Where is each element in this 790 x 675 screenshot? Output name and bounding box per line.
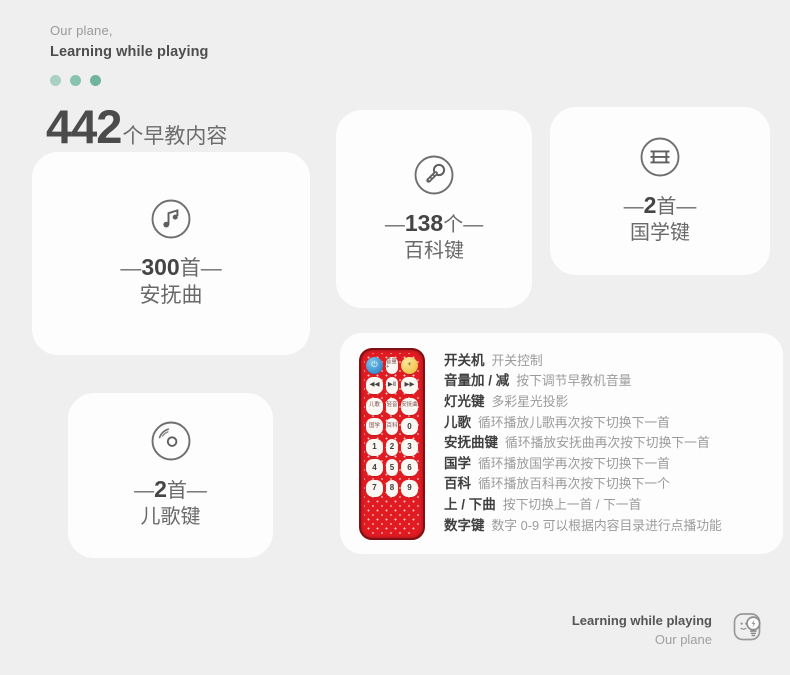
microphone-icon bbox=[413, 154, 455, 201]
feature-row: 灯光键多彩星光投影 bbox=[444, 392, 769, 413]
encyclopedia-key[interactable]: 百科 bbox=[386, 418, 398, 435]
footer-text: Learning while playing Our plane bbox=[572, 611, 712, 649]
decorative-dots bbox=[50, 75, 209, 86]
feature-key-name: 儿歌 bbox=[444, 413, 471, 434]
feature-description: 数字 0-9 可以根据内容目录进行点播功能 bbox=[492, 516, 722, 537]
feature-key-name: 百科 bbox=[444, 474, 471, 495]
previous-key[interactable]: ◀◀ bbox=[366, 377, 383, 394]
feature-row: 音量加 / 减按下调节早教机音量 bbox=[444, 371, 769, 392]
light-key[interactable]: ☀ bbox=[401, 357, 418, 374]
card-count-line: —2首— bbox=[624, 192, 697, 220]
digit-2-key[interactable]: 2 bbox=[386, 439, 398, 456]
dot-2-icon bbox=[70, 75, 81, 86]
feature-description: 按下切换上一首 / 下一首 bbox=[503, 495, 642, 516]
feature-row: 开关机开关控制 bbox=[444, 351, 769, 372]
lullaby-key[interactable]: 安抚曲 bbox=[401, 398, 418, 415]
feature-description: 循环播放儿歌再次按下切换下一首 bbox=[478, 413, 670, 434]
digit-5-key[interactable]: 5 bbox=[386, 459, 398, 476]
card-count-line: —300首— bbox=[120, 254, 221, 282]
infographic-page: Our plane, Learning while playing 442 个早… bbox=[0, 0, 790, 675]
power-key[interactable]: ⏻ bbox=[366, 357, 383, 374]
feature-key-name: 国学 bbox=[444, 454, 471, 475]
digit-0-key[interactable]: 0 bbox=[401, 418, 418, 435]
feature-row: 安抚曲键循环播放安抚曲再次按下切换下一首 bbox=[444, 433, 769, 454]
feature-card-encyclopedia[interactable]: —138个— 百科键 bbox=[336, 110, 532, 308]
disc-icon bbox=[150, 420, 192, 467]
header-eyebrow: Our plane, bbox=[50, 22, 209, 40]
digit-7-key[interactable]: 7 bbox=[366, 480, 383, 497]
feature-key-name: 音量加 / 减 bbox=[444, 371, 509, 392]
feature-description: 按下调节早教机音量 bbox=[516, 371, 631, 392]
feature-description: 多彩星光投影 bbox=[492, 392, 569, 413]
feature-key-name: 开关机 bbox=[444, 351, 485, 372]
next-key[interactable]: ▶▶ bbox=[401, 377, 418, 394]
dot-1-icon bbox=[50, 75, 61, 86]
digit-9-key[interactable]: 9 bbox=[401, 480, 418, 497]
total-content-count: 442 个早教内容 bbox=[46, 104, 227, 150]
feature-card-lullaby[interactable]: —300首— 安抚曲 bbox=[32, 152, 310, 355]
volume-key[interactable]: 音量+ bbox=[386, 357, 398, 374]
feature-row: 国学循环播放国学再次按下切换下一首 bbox=[444, 454, 769, 475]
feature-description: 开关控制 bbox=[492, 351, 543, 372]
card-label: 百科键 bbox=[404, 238, 464, 265]
feature-card-kidsongs[interactable]: —2首— 儿歌键 bbox=[68, 393, 273, 558]
play-pause-key[interactable]: ▶Ⅱ bbox=[386, 377, 398, 394]
feature-key-name: 安抚曲键 bbox=[444, 433, 498, 454]
digit-4-key[interactable]: 4 bbox=[366, 459, 383, 476]
remote-image: ⏻音量+☀◀◀▶Ⅱ▶▶儿歌轻音安抚曲国学百科0123456789 bbox=[340, 348, 444, 540]
card-count-line: —2首— bbox=[134, 476, 207, 504]
dot-3-icon bbox=[90, 75, 101, 86]
footer-slogan: Learning while playing bbox=[572, 611, 712, 630]
header-brandline: Learning while playing bbox=[50, 42, 209, 62]
footer-brand: Our plane bbox=[572, 630, 712, 649]
feature-row: 上 / 下曲按下切换上一首 / 下一首 bbox=[444, 495, 769, 516]
card-label: 国学键 bbox=[630, 220, 690, 247]
feature-row: 数字键数字 0-9 可以根据内容目录进行点播功能 bbox=[444, 516, 769, 537]
music-key[interactable]: 轻音 bbox=[386, 398, 398, 415]
total-unit: 个早教内容 bbox=[122, 124, 227, 150]
remote-feature-panel: ⏻音量+☀◀◀▶Ⅱ▶▶儿歌轻音安抚曲国学百科0123456789 开关机开关控制… bbox=[340, 333, 783, 554]
digit-1-key[interactable]: 1 bbox=[366, 439, 383, 456]
feature-card-classics[interactable]: —2首— 国学键 bbox=[550, 107, 770, 275]
card-label: 儿歌键 bbox=[141, 504, 201, 531]
music-note-icon bbox=[150, 198, 192, 245]
head-lightbulb-icon bbox=[726, 606, 768, 653]
kidsong-key[interactable]: 儿歌 bbox=[366, 398, 383, 415]
feature-list: 开关机开关控制音量加 / 减按下调节早教机音量灯光键多彩星光投影儿歌循环播放儿歌… bbox=[444, 347, 783, 540]
total-number: 442 bbox=[46, 104, 121, 150]
books-icon bbox=[639, 136, 681, 183]
feature-row: 儿歌循环播放儿歌再次按下切换下一首 bbox=[444, 413, 769, 434]
feature-description: 循环播放安抚曲再次按下切换下一首 bbox=[505, 433, 710, 454]
feature-key-name: 上 / 下曲 bbox=[444, 495, 496, 516]
digit-3-key[interactable]: 3 bbox=[401, 439, 418, 456]
digit-8-key[interactable]: 8 bbox=[386, 480, 398, 497]
footer: Learning while playing Our plane bbox=[572, 606, 768, 653]
remote-keypad[interactable]: ⏻音量+☀◀◀▶Ⅱ▶▶儿歌轻音安抚曲国学百科0123456789 bbox=[366, 357, 418, 497]
feature-key-name: 数字键 bbox=[444, 516, 485, 537]
classics-key[interactable]: 国学 bbox=[366, 418, 383, 435]
feature-key-name: 灯光键 bbox=[444, 392, 485, 413]
feature-row: 百科循环播放百科再次按下切换下一个 bbox=[444, 474, 769, 495]
remote-control[interactable]: ⏻音量+☀◀◀▶Ⅱ▶▶儿歌轻音安抚曲国学百科0123456789 bbox=[359, 348, 425, 540]
feature-description: 循环播放百科再次按下切换下一个 bbox=[478, 474, 670, 495]
card-count-line: —138个— bbox=[385, 210, 483, 238]
digit-6-key[interactable]: 6 bbox=[401, 459, 418, 476]
header: Our plane, Learning while playing bbox=[50, 22, 209, 86]
card-label: 安抚曲 bbox=[140, 282, 203, 309]
feature-description: 循环播放国学再次按下切换下一首 bbox=[478, 454, 670, 475]
